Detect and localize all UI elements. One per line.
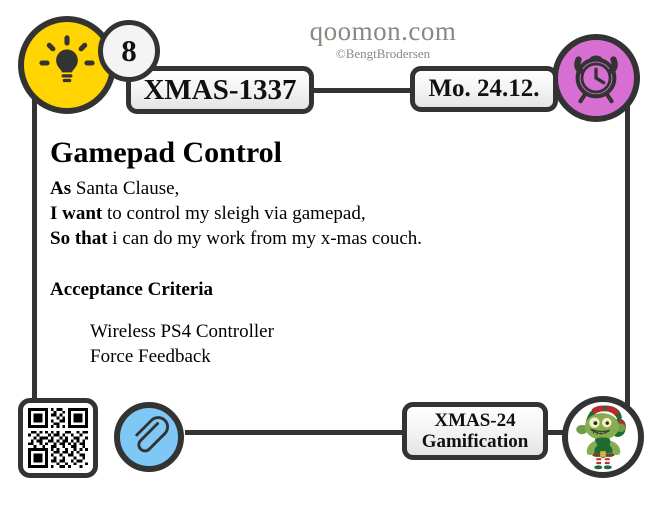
connector-line-right [625,96,630,432]
epic-label[interactable]: XMAS-24 Gamification [402,402,548,460]
assignee-node[interactable] [562,396,644,478]
acceptance-criteria-list: Wireless PS4 Controller Force Feedback [50,319,570,370]
watermark: qoomon.com ©BengtBrodersen [258,18,508,60]
due-date-label[interactable]: Mo. 24.12. [410,66,558,112]
story-sothat-prefix: So that [50,228,108,249]
epic-id: XMAS-24 [434,410,515,431]
alarm-clock-icon [565,45,627,112]
connector-line-left [32,96,37,414]
story-sothat-value: i can do my work from my x-mas couch. [112,228,422,249]
elf-avatar-icon [565,397,641,478]
qr-code-icon[interactable] [18,398,98,478]
attachment-node[interactable] [114,402,184,472]
acceptance-criteria-item: Force Feedback [90,344,570,369]
agile-story-card: qoomon.com ©BengtBrodersen 8 XMAS-1337 [0,0,663,506]
story-want-prefix: I want [50,203,102,224]
connector-line-bottom-middle [185,430,413,435]
lightbulb-icon [36,32,98,99]
story-sothat-line: So that i can do my work from my x-mas c… [50,226,570,251]
story-role-prefix: As [50,178,71,199]
acceptance-criteria-heading: Acceptance Criteria [50,279,570,301]
watermark-site: qoomon.com [258,18,508,45]
story-body: Gamepad Control As Santa Clause, I want … [50,136,570,370]
acceptance-criteria-item: Wireless PS4 Controller [90,319,570,344]
story-points-badge: 8 [98,20,160,82]
paperclip-icon [126,412,172,463]
due-date-node[interactable] [552,34,640,122]
story-want-line: I want to control my sleigh via gamepad, [50,201,570,226]
story-role-line: As Santa Clause, [50,176,570,201]
story-title: Gamepad Control [50,136,570,170]
watermark-copyright: ©BengtBrodersen [258,47,508,60]
story-role-value: Santa Clause, [76,178,179,199]
epic-name: Gamification [422,431,529,452]
issue-id-label[interactable]: XMAS-1337 [126,66,314,114]
story-want-value: to control my sleigh via gamepad, [107,203,366,224]
